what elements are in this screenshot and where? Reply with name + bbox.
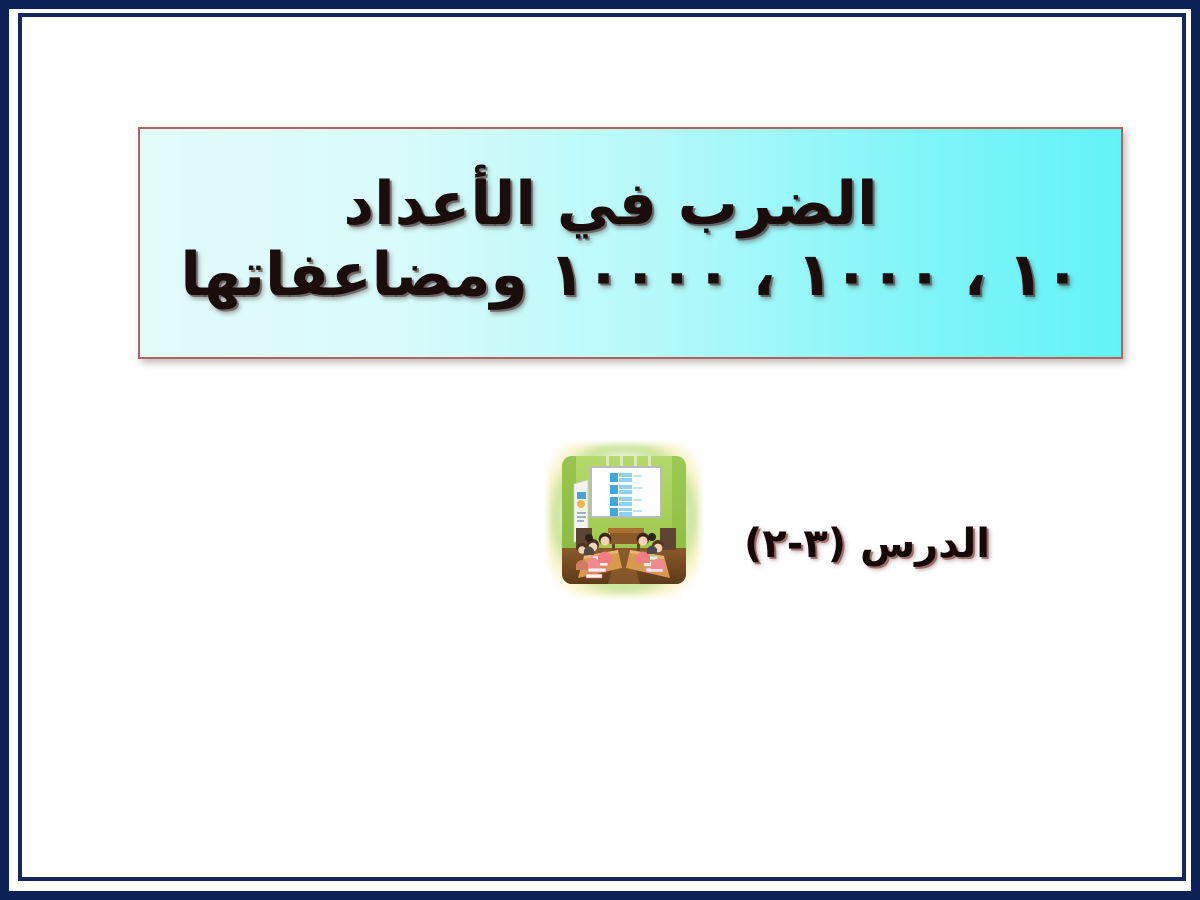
slide-canvas: الضرب في الأعداد ١٠ ، ١٠٠٠ ، ١٠٠٠٠ ومضاع… (0, 0, 1200, 900)
lesson-number-label: الدرس (٣-٢) (744, 521, 990, 567)
classroom-illustration (548, 444, 700, 596)
classroom-presentation-icon (548, 444, 700, 596)
lesson-row: الدرس (٣-٢) (430, 432, 990, 597)
title-line-secondary: ١٠ ، ١٠٠٠ ، ١٠٠٠٠ ومضاعفاتها (154, 240, 1107, 311)
title-banner: الضرب في الأعداد ١٠ ، ١٠٠٠ ، ١٠٠٠٠ ومضاع… (138, 127, 1123, 359)
title-line-primary: الضرب في الأعداد (134, 169, 1127, 240)
